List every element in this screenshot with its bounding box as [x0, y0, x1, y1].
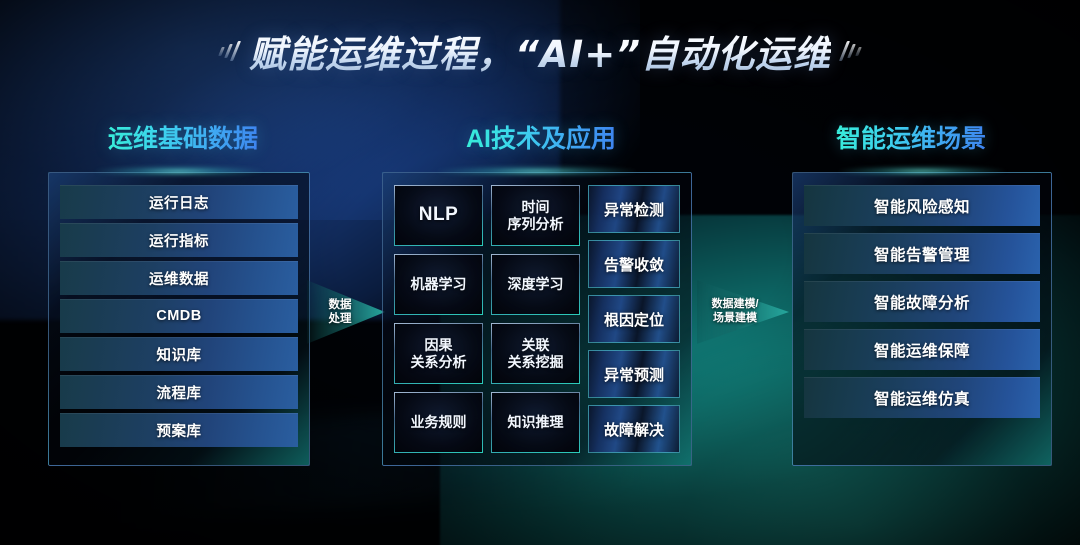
base-data-list: 运行日志 运行指标 运维数据 CMDB 知识库 流程库 预案库: [60, 185, 298, 447]
capability-box[interactable]: 异常预测: [588, 350, 680, 398]
tech-box-line1: 因果: [425, 337, 453, 353]
capability-box[interactable]: 告警收敛: [588, 240, 680, 288]
tech-box[interactable]: 知识推理: [491, 392, 580, 453]
tech-box-line1: 知识推理: [508, 414, 564, 431]
tech-box-line1: 机器学习: [411, 276, 467, 293]
arrow-data-modeling: 数据建模/ 场景建模: [697, 274, 789, 350]
panel-ai-tech: NLP 时间 序列分析 机器学习 深度学习: [382, 172, 692, 466]
arrow-data-processing: 数据 处理: [307, 274, 385, 350]
tech-box[interactable]: 因果 关系分析: [394, 323, 483, 384]
list-item[interactable]: 运行日志: [60, 185, 298, 219]
list-item[interactable]: 知识库: [60, 337, 298, 371]
panel-base-data: 运行日志 运行指标 运维数据 CMDB 知识库 流程库 预案库: [48, 172, 310, 466]
tech-box-line2: 序列分析: [508, 216, 564, 232]
list-item[interactable]: 智能运维仿真: [804, 377, 1040, 418]
list-item[interactable]: CMDB: [60, 299, 298, 333]
arrow-label: 数据 处理: [307, 274, 385, 350]
slide-title-bar: 赋能运维过程，“AI+”自动化运维: [0, 24, 1080, 78]
panel-scenarios-content: 智能风险感知 智能告警管理 智能故障分析 智能运维保障 智能运维仿真: [793, 173, 1051, 465]
list-item[interactable]: 智能告警管理: [804, 233, 1040, 274]
title-slash-decoration-right: [843, 34, 860, 68]
tech-box-line2: 关系分析: [411, 354, 467, 370]
list-item[interactable]: 智能故障分析: [804, 281, 1040, 322]
capability-box[interactable]: 异常检测: [588, 185, 680, 233]
capability-box[interactable]: 故障解决: [588, 405, 680, 453]
panel-base-data-content: 运行日志 运行指标 运维数据 CMDB 知识库 流程库 预案库: [49, 173, 309, 465]
title-slash-decoration-left: [220, 34, 237, 68]
ai-tech-grid: NLP 时间 序列分析 机器学习 深度学习: [394, 185, 580, 453]
column-heading-base-data: 运维基础数据: [108, 119, 258, 155]
panel-ai-tech-content: NLP 时间 序列分析 机器学习 深度学习: [383, 173, 691, 465]
list-item[interactable]: 运维数据: [60, 261, 298, 295]
list-item[interactable]: 流程库: [60, 375, 298, 409]
list-item[interactable]: 预案库: [60, 413, 298, 447]
tech-box-line2: 关系挖掘: [508, 354, 564, 370]
arrow-label-line2: 处理: [329, 312, 352, 326]
tech-box[interactable]: 业务规则: [394, 392, 483, 453]
tech-box-line1: 深度学习: [508, 276, 564, 293]
tech-box[interactable]: NLP: [394, 185, 483, 246]
tech-box[interactable]: 关联 关系挖掘: [491, 323, 580, 384]
slide-title: 赋能运维过程，“AI+”自动化运维: [249, 24, 831, 78]
capability-box[interactable]: 根因定位: [588, 295, 680, 343]
ai-tech-row: NLP 时间 序列分析 机器学习 深度学习: [394, 185, 680, 453]
tech-box[interactable]: 机器学习: [394, 254, 483, 315]
list-item[interactable]: 智能运维保障: [804, 329, 1040, 370]
list-item[interactable]: 运行指标: [60, 223, 298, 257]
tech-box-line1: 业务规则: [411, 414, 467, 431]
tech-box-line1: 时间: [522, 199, 550, 215]
list-item[interactable]: 智能风险感知: [804, 185, 1040, 226]
column-heading-ai-tech: AI技术及应用: [466, 119, 616, 155]
slide-canvas: 赋能运维过程，“AI+”自动化运维 运维基础数据 AI技术及应用 智能运维场景 …: [0, 0, 1080, 545]
arrow-label-line2: 场景建模: [713, 312, 757, 326]
arrow-label: 数据建模/ 场景建模: [697, 274, 789, 350]
tech-box-line1: 关联: [522, 337, 550, 353]
tech-box[interactable]: 深度学习: [491, 254, 580, 315]
scenario-list: 智能风险感知 智能告警管理 智能故障分析 智能运维保障 智能运维仿真: [804, 185, 1040, 418]
column-heading-scenarios: 智能运维场景: [836, 119, 986, 155]
panel-scenarios: 智能风险感知 智能告警管理 智能故障分析 智能运维保障 智能运维仿真: [792, 172, 1052, 466]
tech-box-line1: NLP: [419, 204, 459, 226]
arrow-label-line1: 数据建模/: [711, 298, 758, 312]
tech-box[interactable]: 时间 序列分析: [491, 185, 580, 246]
arrow-label-line1: 数据: [329, 298, 352, 312]
ai-capability-list: 异常检测 告警收敛 根因定位 异常预测 故障解决: [588, 185, 680, 453]
